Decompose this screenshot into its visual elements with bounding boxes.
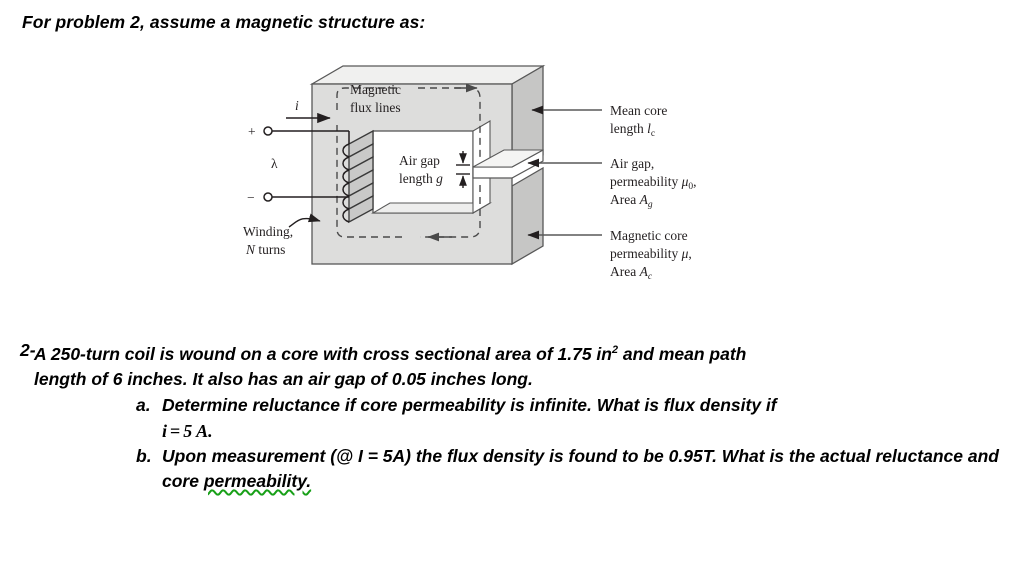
magnetic-core-right-label-line1: Magnetic core [610,228,688,243]
equation-value: 5 A. [183,421,212,441]
worksheet-page: For problem 2, assume a magnetic structu… [0,0,1024,579]
subitem-a: a. Determine reluctance if core permeabi… [136,393,1024,444]
air-gap-label-line2: length g [399,171,443,186]
page-title: For problem 2, assume a magnetic structu… [22,12,425,33]
problem-statement: 2- A 250-turn coil is wound on a core wi… [0,338,1024,494]
positive-sign-label: + [248,124,256,139]
winding-label-line1: Winding, [243,224,293,239]
air-gap-label-line1: Air gap [399,153,440,168]
air-gap-right-label-line3: Area Ag [610,192,653,210]
mean-core-length-label-line2: length lc [610,121,655,139]
subitem-b-body: Upon measurement (@ I = 5A) the flux den… [162,444,1024,494]
problem-line2: length of 6 inches. It also has an air g… [34,367,1024,392]
problem-line1-tail: and mean path [618,344,746,364]
problem-body: A 250-turn coil is wound on a core with … [34,338,1024,392]
magnetic-core-right-label-line3: Area Ac [610,264,653,282]
problem-subitems: a. Determine reluctance if core permeabi… [0,393,1024,494]
current-label: i [295,98,299,113]
problem-number: 2- [0,338,34,363]
subitem-a-equation: i=5 A. [162,419,1024,444]
negative-sign-label: − [247,190,255,205]
flux-lines-label-line1: Magnetic [350,82,401,97]
magnetic-structure-figure: + − λ i Magnetic flux lines Air gap leng… [0,55,1024,300]
problem-2-row: 2- A 250-turn coil is wound on a core wi… [0,338,1024,392]
subitem-a-line1: Determine reluctance if core permeabilit… [162,395,777,415]
equation-equals: = [167,421,183,441]
subitem-a-body: Determine reluctance if core permeabilit… [162,393,1024,444]
subitem-b-line1: Upon measurement (@ I = 5A) the flux den… [162,446,784,466]
mean-core-length-label-line1: Mean core [610,103,667,118]
subitem-b: b. Upon measurement (@ I = 5A) the flux … [136,444,1024,494]
air-gap-right-label-line1: Air gap, [610,156,654,171]
problem-line1: A 250-turn coil is wound on a core with … [34,344,612,364]
negative-terminal-dot [264,193,272,201]
core-right-face-lower [512,168,543,264]
magnetic-core-right-label-line2: permeability μ, [610,246,692,261]
winding-label-line2: N turns [245,242,285,257]
flux-lines-label-line2: flux lines [350,100,401,115]
air-gap-right-label-line2: permeability μ0, [610,174,697,192]
subitem-a-letter: a. [136,393,162,418]
core-top-face [312,66,543,84]
positive-terminal-dot [264,127,272,135]
spellcheck-flagged-word: permeability. [204,471,311,491]
flux-linkage-lambda-label: λ [271,156,278,171]
subitem-b-letter: b. [136,444,162,469]
